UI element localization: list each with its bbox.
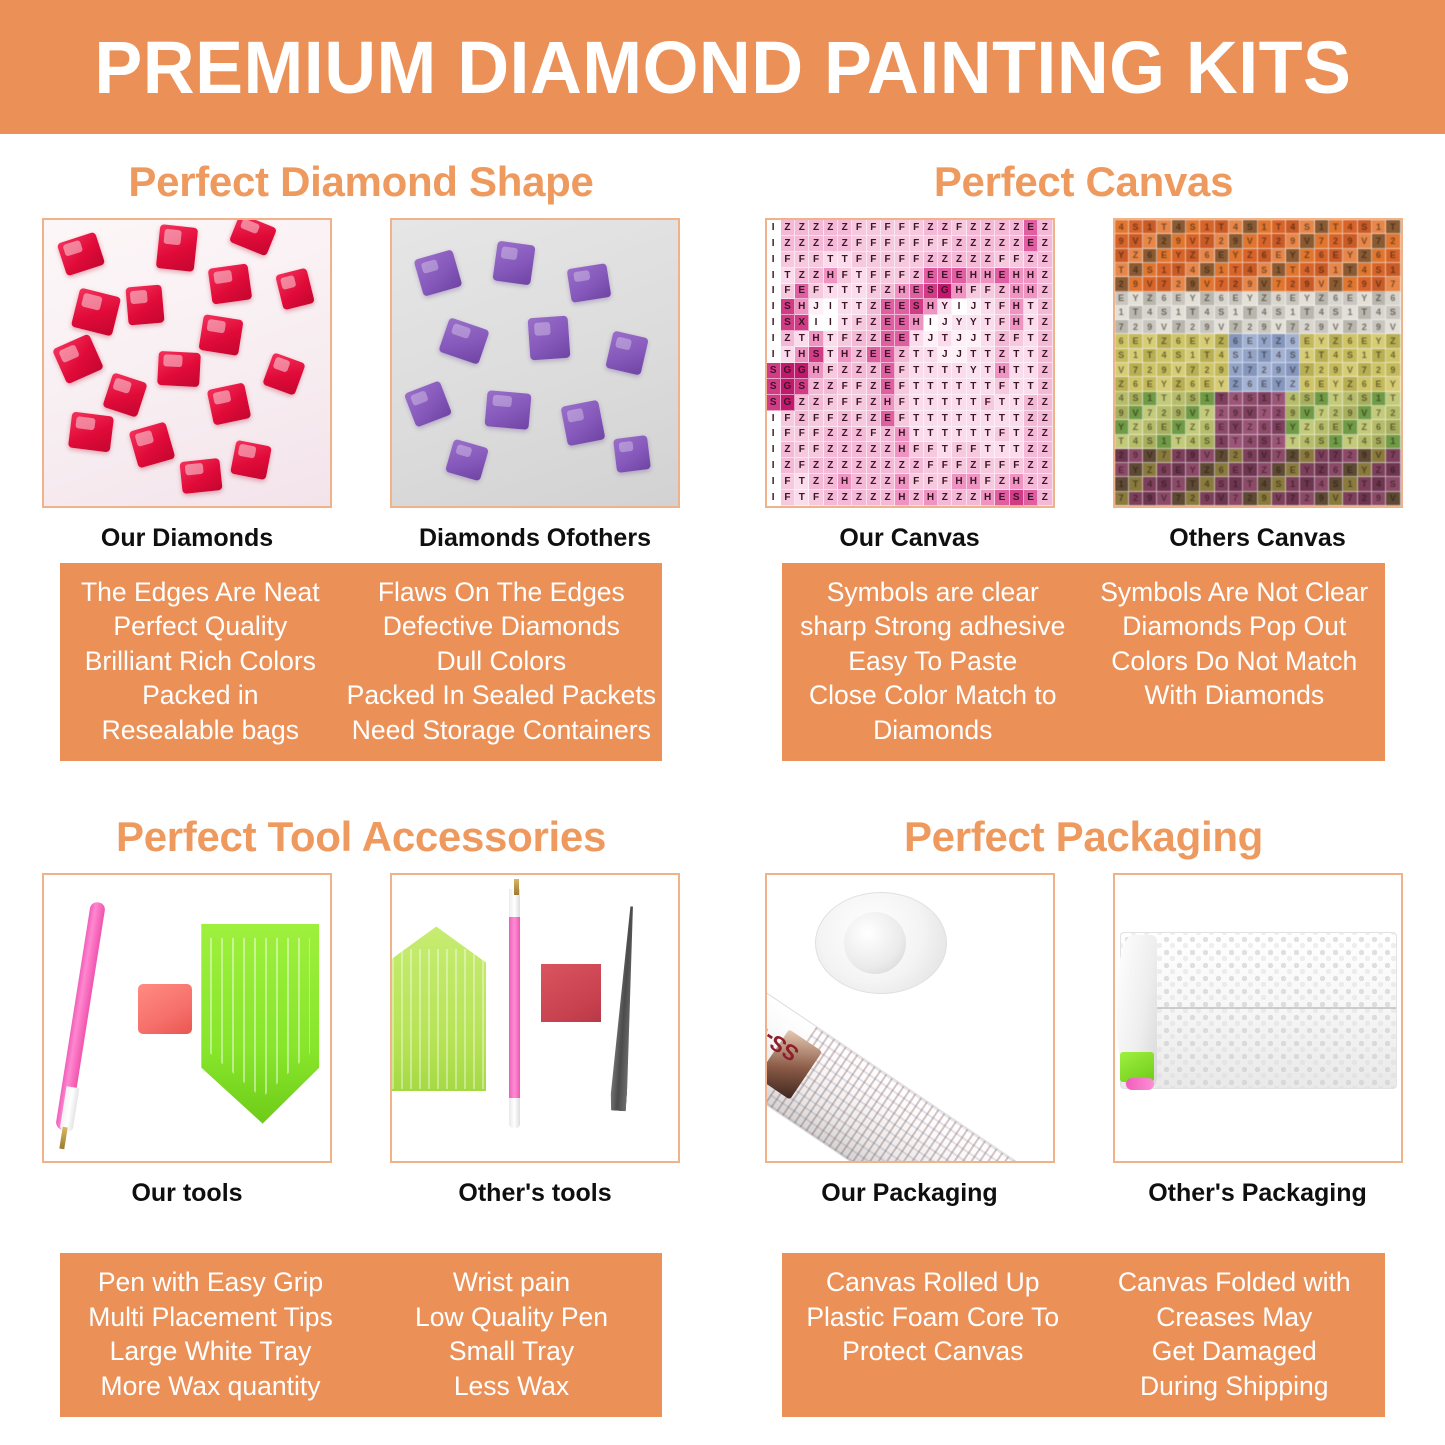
canvas-symbol-cell: 4 [1286, 392, 1300, 406]
canvas-symbol-cell: E [1329, 249, 1343, 263]
canvas-symbol-cell: F [995, 252, 1009, 268]
red-bead-scene [44, 220, 330, 506]
canvas-symbol-cell: I [824, 315, 838, 331]
canvas-symbol-cell: 2 [1286, 449, 1300, 463]
canvas-symbol-cell: E [1157, 420, 1171, 434]
canvas-symbol-cell: F [910, 252, 924, 268]
canvas-symbol-cell: Z [1258, 292, 1272, 306]
features-others-packaging: Canvas Folded withCreases MayGet Damaged… [1084, 1265, 1386, 1403]
canvas-symbol-cell: S [1358, 220, 1372, 234]
canvas-symbol-cell: Y [1258, 334, 1272, 348]
canvas-symbol-cell: 7 [1386, 277, 1400, 291]
image-our-tools [42, 873, 332, 1163]
canvas-symbol-cell: 7 [1272, 277, 1286, 291]
canvas-symbol-cell: Z [910, 268, 924, 284]
canvas-symbol-cell: F [867, 427, 881, 443]
panel-row-canvas: IZZZZZFFFFFZZFZZZZEZIZZZZZFFFFFFFZZZZZEZ… [722, 218, 1445, 553]
canvas-symbol-cell: F [881, 268, 895, 284]
canvas-symbol-cell: 1 [1272, 263, 1286, 277]
canvas-symbol-cell: Z [1143, 463, 1157, 477]
canvas-symbol-cell: Z [967, 490, 981, 506]
canvas-symbol-cell: I [767, 315, 781, 331]
canvas-symbol-cell: 6 [1186, 377, 1200, 391]
canvas-symbol-cell: 1 [1215, 435, 1229, 449]
canvas-symbol-cell: 1 [1243, 349, 1257, 363]
canvas-symbol-cell: Z [952, 252, 966, 268]
canvas-symbol-cell: 2 [1243, 492, 1257, 506]
canvas-symbol-cell: E [1272, 249, 1286, 263]
canvas-symbol-cell: T [952, 379, 966, 395]
canvas-symbol-cell: T [1358, 306, 1372, 320]
canvas-symbol-cell: Z [852, 442, 866, 458]
canvas-symbol-cell: 9 [1172, 234, 1186, 248]
image-other-packaging [1113, 873, 1403, 1163]
canvas-symbol-cell: Z [938, 252, 952, 268]
canvas-symbol-cell: 7 [1143, 406, 1157, 420]
canvas-symbol-cell: 1 [1386, 263, 1400, 277]
section-title-diamond-shape: Perfect Diamond Shape [0, 134, 722, 206]
feature-line: Packed In Sealed Packets [347, 678, 656, 712]
canvas-symbol-cell: 4 [1343, 220, 1357, 234]
canvas-symbol-cell: Z [781, 236, 795, 252]
canvas-symbol-cell: Z [981, 220, 995, 236]
canvas-symbol-cell: T [952, 363, 966, 379]
canvas-symbol-cell: T [1157, 220, 1171, 234]
canvas-symbol-cell: H [838, 474, 852, 490]
canvas-symbol-cell: T [795, 331, 809, 347]
canvas-symbol-cell: I [924, 315, 938, 331]
canvas-symbol-cell: 4 [1229, 392, 1243, 406]
canvas-symbol-cell: F [895, 411, 909, 427]
canvas-symbol-cell: Y [1115, 420, 1129, 434]
canvas-symbol-cell: 1 [1229, 306, 1243, 320]
canvas-symbol-cell: 9 [1358, 277, 1372, 291]
feature-line: Less Wax [367, 1369, 656, 1403]
canvas-symbol-cell: F [781, 474, 795, 490]
canvas-symbol-cell: T [1200, 349, 1214, 363]
canvas-symbol-cell: Z [867, 299, 881, 315]
canvas-symbol-cell: Y [1157, 377, 1171, 391]
canvas-symbol-cell: 4 [1129, 263, 1143, 277]
canvas-symbol-cell: F [938, 236, 952, 252]
canvas-symbol-cell: T [781, 268, 795, 284]
canvas-symbol-cell: E [1300, 334, 1314, 348]
other-canvas-symbol-grid: 4S1T4S1T4S1T4S1T4S1T9V729V729V729V729V72… [1115, 220, 1401, 506]
canvas-symbol-cell: Z [981, 252, 995, 268]
canvas-symbol-cell: 4 [1129, 435, 1143, 449]
feature-line: Diamonds Pop Out [1090, 609, 1380, 643]
canvas-symbol-cell: Z [867, 363, 881, 379]
canvas-symbol-cell: Z [1038, 442, 1052, 458]
feature-line: Get Damaged [1090, 1334, 1380, 1368]
canvas-symbol-cell: J [938, 315, 952, 331]
canvas-symbol-cell: S [1258, 435, 1272, 449]
canvas-symbol-cell: I [767, 490, 781, 506]
canvas-symbol-cell: T [1010, 347, 1024, 363]
canvas-symbol-cell: Z [1372, 292, 1386, 306]
canvas-symbol-cell: Z [781, 442, 795, 458]
canvas-symbol-cell: F [952, 442, 966, 458]
canvas-symbol-cell: Y [1129, 463, 1143, 477]
canvas-symbol-cell: Z [838, 458, 852, 474]
canvas-symbol-cell: F [967, 442, 981, 458]
canvas-symbol-cell: H [824, 268, 838, 284]
canvas-symbol-cell: 6 [1157, 463, 1171, 477]
canvas-symbol-cell: T [995, 411, 1009, 427]
canvas-symbol-cell: Z [881, 427, 895, 443]
canvas-symbol-cell: T [1343, 263, 1357, 277]
canvas-symbol-cell: T [981, 411, 995, 427]
canvas-symbol-cell: E [952, 268, 966, 284]
canvas-symbol-cell: 9 [1229, 234, 1243, 248]
canvas-symbol-cell: 9 [1372, 320, 1386, 334]
canvas-symbol-cell: T [910, 363, 924, 379]
canvas-symbol-cell: V [1215, 492, 1229, 506]
canvas-symbol-cell: V [1115, 363, 1129, 377]
canvas-symbol-cell: Z [881, 442, 895, 458]
canvas-symbol-cell: F [995, 299, 1009, 315]
canvas-symbol-cell: Z [924, 252, 938, 268]
canvas-symbol-cell: T [1024, 331, 1038, 347]
canvas-symbol-cell: V [1315, 277, 1329, 291]
canvas-symbol-cell: T [1115, 435, 1129, 449]
canvas-symbol-cell: 2 [1243, 320, 1257, 334]
canvas-symbol-cell: H [795, 347, 809, 363]
canvas-symbol-cell: 4 [1186, 435, 1200, 449]
canvas-symbol-cell: F [981, 395, 995, 411]
thin-pen-base-icon [509, 1098, 520, 1128]
canvas-symbol-cell: T [952, 411, 966, 427]
canvas-symbol-cell: Z [1186, 249, 1200, 263]
canvas-symbol-cell: 1 [1386, 435, 1400, 449]
section-title-tools: Perfect Tool Accessories [0, 789, 722, 861]
canvas-symbol-cell: X [795, 315, 809, 331]
canvas-symbol-cell: 2 [1157, 406, 1171, 420]
canvas-symbol-cell: I [824, 299, 838, 315]
canvas-symbol-cell: T [981, 299, 995, 315]
panel-our-diamonds: Our Diamonds [42, 218, 332, 553]
canvas-symbol-cell: Y [1229, 249, 1243, 263]
canvas-symbol-cell: 2 [1129, 320, 1143, 334]
canvas-symbol-cell: 6 [1258, 420, 1272, 434]
canvas-symbol-cell: F [824, 363, 838, 379]
canvas-symbol-cell: 1 [1143, 392, 1157, 406]
feature-line: More Wax quantity [66, 1369, 355, 1403]
canvas-symbol-cell: H [924, 299, 938, 315]
canvas-symbol-cell: E [1386, 249, 1400, 263]
canvas-symbol-cell: V [1186, 234, 1200, 248]
canvas-symbol-cell: 7 [1343, 320, 1357, 334]
canvas-symbol-cell: J [952, 347, 966, 363]
canvas-symbol-cell: 7 [1243, 363, 1257, 377]
canvas-symbol-cell: S [1272, 477, 1286, 491]
canvas-symbol-cell: T [910, 347, 924, 363]
small-wax-square-icon [541, 964, 601, 1022]
canvas-symbol-cell: E [1315, 377, 1329, 391]
canvas-symbol-cell: E [938, 268, 952, 284]
canvas-symbol-cell: J [924, 331, 938, 347]
canvas-symbol-cell: S [1186, 392, 1200, 406]
canvas-symbol-cell: T [838, 252, 852, 268]
canvas-symbol-cell: 4 [1143, 306, 1157, 320]
canvas-symbol-cell: V [1300, 406, 1314, 420]
canvas-symbol-cell: Z [867, 315, 881, 331]
canvas-symbol-cell: S [1215, 477, 1229, 491]
canvas-symbol-cell: S [1300, 220, 1314, 234]
canvas-symbol-cell: T [1010, 442, 1024, 458]
canvas-symbol-cell: T [1286, 435, 1300, 449]
page-title: PREMIUM DIAMOND PAINTING KITS [94, 25, 1351, 110]
canvas-symbol-cell: T [838, 315, 852, 331]
canvas-symbol-cell: Z [824, 458, 838, 474]
canvas-symbol-cell: Z [852, 363, 866, 379]
infographic-page: PREMIUM DIAMOND PAINTING KITS Perfect Di… [0, 0, 1445, 1445]
canvas-symbol-cell: T [938, 442, 952, 458]
feature-line: Dull Colors [347, 644, 656, 678]
canvas-symbol-cell: H [895, 490, 909, 506]
canvas-symbol-cell: E [1186, 334, 1200, 348]
canvas-symbol-cell: E [995, 490, 1009, 506]
image-our-diamonds [42, 218, 332, 508]
canvas-symbol-cell: H [881, 395, 895, 411]
canvas-symbol-cell: 2 [1315, 363, 1329, 377]
canvas-symbol-cell: 9 [1343, 406, 1357, 420]
canvas-symbol-cell: F [781, 427, 795, 443]
canvas-symbol-cell: 6 [1386, 463, 1400, 477]
features-canvas: Symbols are clearsharp Strong adhesiveEa… [782, 563, 1385, 761]
canvas-symbol-cell: T [1010, 395, 1024, 411]
canvas-symbol-cell: Z [981, 236, 995, 252]
canvas-symbol-cell: T [1010, 379, 1024, 395]
canvas-symbol-cell: 1 [1157, 435, 1171, 449]
canvas-symbol-cell: 4 [1300, 263, 1314, 277]
canvas-symbol-cell: F [809, 442, 823, 458]
canvas-symbol-cell: S [781, 315, 795, 331]
canvas-symbol-cell: 4 [1358, 435, 1372, 449]
canvas-symbol-cell: V [1229, 363, 1243, 377]
canvas-symbol-cell: G [781, 363, 795, 379]
canvas-symbol-cell: T [852, 284, 866, 300]
feature-line: Symbols Are Not Clear [1090, 575, 1380, 609]
canvas-symbol-cell: Z [867, 395, 881, 411]
canvas-symbol-cell: H [924, 490, 938, 506]
canvas-symbol-cell: E [867, 347, 881, 363]
canvas-symbol-cell: H [1024, 268, 1038, 284]
canvas-symbol-cell: Z [1300, 420, 1314, 434]
canvas-symbol-cell: T [952, 395, 966, 411]
panel-other-tools: Other's tools [390, 873, 680, 1208]
canvas-symbol-cell: S [1315, 263, 1329, 277]
canvas-symbol-cell: Z [995, 284, 1009, 300]
canvas-symbol-cell: Y [1243, 463, 1257, 477]
canvas-symbol-cell: S [1229, 349, 1243, 363]
canvas-symbol-cell: Z [1272, 334, 1286, 348]
canvas-symbol-cell: F [952, 458, 966, 474]
canvas-symbol-cell: Z [1038, 315, 1052, 331]
canvas-symbol-cell: F [795, 427, 809, 443]
section-title-packaging: Perfect Packaging [722, 789, 1445, 861]
canvas-symbol-cell: T [967, 379, 981, 395]
canvas-symbol-cell: H [995, 363, 1009, 379]
canvas-symbol-cell: Z [1372, 463, 1386, 477]
canvas-symbol-cell: 6 [1272, 292, 1286, 306]
canvas-symbol-cell: Z [824, 474, 838, 490]
canvas-symbol-cell: Z [824, 442, 838, 458]
canvas-symbol-cell: Y [1286, 249, 1300, 263]
canvas-symbol-cell: E [1157, 249, 1171, 263]
canvas-symbol-cell: 6 [1386, 292, 1400, 306]
canvas-symbol-cell: E [895, 315, 909, 331]
canvas-symbol-cell: V [1129, 234, 1143, 248]
canvas-symbol-cell: 9 [1129, 277, 1143, 291]
canvas-symbol-cell: Z [1024, 458, 1038, 474]
canvas-symbol-cell: 7 [1215, 277, 1229, 291]
bubble-mailer-icon [1120, 932, 1397, 1088]
canvas-symbol-cell: T [938, 427, 952, 443]
panel-other-packaging: Other's Packaging [1113, 873, 1403, 1208]
canvas-symbol-cell: T [1143, 349, 1157, 363]
canvas-symbol-cell: 9 [1300, 277, 1314, 291]
canvas-symbol-cell: 7 [1172, 492, 1186, 506]
canvas-symbol-cell: Z [795, 268, 809, 284]
canvas-symbol-cell: 7 [1372, 234, 1386, 248]
canvas-symbol-cell: T [981, 442, 995, 458]
canvas-symbol-cell: S [1386, 477, 1400, 491]
canvas-symbol-cell: Z [852, 458, 866, 474]
canvas-symbol-cell: 1 [1157, 263, 1171, 277]
canvas-symbol-cell: T [852, 268, 866, 284]
canvas-symbol-cell: 2 [1229, 277, 1243, 291]
canvas-symbol-cell: 6 [1229, 334, 1243, 348]
canvas-symbol-cell: 7 [1115, 492, 1129, 506]
canvas-symbol-cell: 1 [1300, 349, 1314, 363]
canvas-symbol-cell: E [1229, 292, 1243, 306]
canvas-symbol-cell: E [910, 284, 924, 300]
canvas-symbol-cell: E [1200, 377, 1214, 391]
canvas-symbol-cell: E [1343, 292, 1357, 306]
canvas-symbol-cell: F [895, 252, 909, 268]
canvas-symbol-cell: Z [967, 252, 981, 268]
canvas-symbol-cell: Z [1010, 236, 1024, 252]
canvas-symbol-cell: Z [867, 331, 881, 347]
canvas-symbol-cell: 4 [1200, 306, 1214, 320]
canvas-symbol-cell: 1 [1272, 435, 1286, 449]
canvas-symbol-cell: F [910, 474, 924, 490]
canvas-symbol-cell: Z [1038, 427, 1052, 443]
canvas-symbol-cell: T [824, 347, 838, 363]
canvas-symbol-cell: Y [1172, 249, 1186, 263]
image-our-canvas: IZZZZZFFFFFZZFZZZZEZIZZZZZFFFFFFFZZZZZEZ… [765, 218, 1055, 508]
panel-row-tools: Our tools [0, 873, 722, 1208]
canvas-symbol-cell: T [938, 363, 952, 379]
canvas-symbol-cell: Z [1329, 334, 1343, 348]
canvas-symbol-cell: Z [1315, 292, 1329, 306]
features-tools: Pen with Easy GripMulti Placement TipsLa… [60, 1253, 662, 1417]
canvas-symbol-cell: 7 [1200, 406, 1214, 420]
canvas-symbol-cell: S [1172, 349, 1186, 363]
canvas-symbol-cell: V [1300, 234, 1314, 248]
canvas-symbol-cell: 7 [1115, 320, 1129, 334]
features-ours-packaging: Canvas Rolled UpPlastic Foam Core ToProt… [782, 1265, 1084, 1403]
canvas-symbol-cell: Z [1215, 334, 1229, 348]
canvas-symbol-cell: Z [967, 220, 981, 236]
canvas-symbol-cell: E [1024, 490, 1038, 506]
canvas-symbol-cell: S [1243, 392, 1257, 406]
canvas-symbol-cell: E [995, 268, 1009, 284]
canvas-symbol-cell: S [1200, 435, 1214, 449]
canvas-symbol-cell: Z [938, 490, 952, 506]
canvas-symbol-cell: T [1157, 392, 1171, 406]
canvas-symbol-cell: Z [809, 379, 823, 395]
canvas-symbol-cell: 2 [1272, 234, 1286, 248]
canvas-symbol-cell: Y [1172, 420, 1186, 434]
canvas-symbol-cell: 6 [1272, 463, 1286, 477]
canvas-symbol-cell: Z [995, 347, 1009, 363]
purple-bead-scene [392, 220, 678, 506]
canvas-symbol-cell: E [881, 315, 895, 331]
canvas-symbol-cell: Z [1358, 249, 1372, 263]
canvas-symbol-cell: Z [838, 411, 852, 427]
canvas-symbol-cell: 2 [1358, 320, 1372, 334]
canvas-symbol-cell: V [1129, 406, 1143, 420]
canvas-symbol-cell: 4 [1186, 263, 1200, 277]
canvas-symbol-cell: T [1229, 435, 1243, 449]
canvas-symbol-cell: F [852, 395, 866, 411]
canvas-symbol-cell: H [910, 315, 924, 331]
canvas-symbol-cell: T [824, 331, 838, 347]
canvas-symbol-cell: T [852, 299, 866, 315]
canvas-symbol-cell: 4 [1315, 306, 1329, 320]
image-other-tools [390, 873, 680, 1163]
canvas-symbol-cell: F [838, 379, 852, 395]
pen-needle-icon [59, 1126, 67, 1149]
canvas-symbol-cell: V [1286, 363, 1300, 377]
canvas-symbol-cell: 9 [1243, 449, 1257, 463]
canvas-symbol-cell: S [1129, 392, 1143, 406]
canvas-symbol-cell: Y [967, 315, 981, 331]
canvas-symbol-cell: 7 [1186, 363, 1200, 377]
canvas-symbol-cell: H [809, 331, 823, 347]
canvas-symbol-cell: Z [1038, 458, 1052, 474]
canvas-symbol-cell: 7 [1286, 320, 1300, 334]
canvas-symbol-cell: 4 [1258, 477, 1272, 491]
canvas-symbol-cell: Y [952, 315, 966, 331]
canvas-symbol-cell: Z [1172, 377, 1186, 391]
canvas-symbol-cell: S [781, 299, 795, 315]
canvas-symbol-cell: E [881, 411, 895, 427]
canvas-symbol-cell: E [1358, 334, 1372, 348]
canvas-symbol-cell: F [781, 284, 795, 300]
feature-line: Brilliant Rich Colors [66, 644, 335, 678]
canvas-symbol-cell: Y [1143, 334, 1157, 348]
panel-row-packaging: SS-011 Our Packaging [722, 873, 1445, 1208]
canvas-symbol-cell: E [1115, 463, 1129, 477]
canvas-symbol-cell: S [1157, 306, 1171, 320]
canvas-symbol-cell: Y [1215, 377, 1229, 391]
canvas-symbol-cell: 9 [1315, 492, 1329, 506]
canvas-symbol-cell: Z [852, 490, 866, 506]
canvas-symbol-cell: F [781, 490, 795, 506]
canvas-symbol-cell: 6 [1315, 249, 1329, 263]
canvas-symbol-cell: 2 [1258, 363, 1272, 377]
canvas-symbol-cell: I [767, 252, 781, 268]
canvas-symbol-cell: H [1024, 284, 1038, 300]
canvas-symbol-cell: 4 [1215, 349, 1229, 363]
canvas-symbol-cell: T [1115, 263, 1129, 277]
canvas-symbol-cell: 9 [1386, 363, 1400, 377]
canvas-symbol-cell: 6 [1372, 249, 1386, 263]
canvas-symbol-cell: E [1343, 463, 1357, 477]
